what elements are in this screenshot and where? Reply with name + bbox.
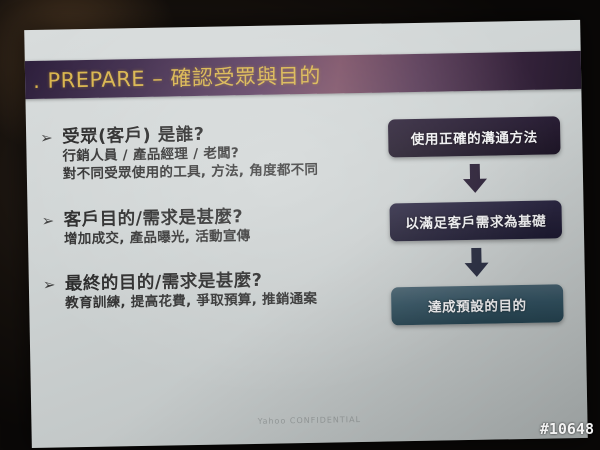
bullet-title: 客戶目的/需求是甚麼? — [63, 203, 243, 231]
flow-step-3: 達成預設的目的 — [391, 284, 564, 325]
arrowhead-bullet-icon: ➢ — [40, 130, 62, 145]
bullet-title: 受眾(客戶) 是誰? — [62, 121, 205, 149]
flow-step-label: 達成預設的目的 — [428, 294, 527, 316]
slide-surface: . PREPARE – 確認受眾與目的 ➢ 受眾(客戶) 是誰? 行銷人員 / … — [24, 20, 588, 448]
bullet-item-1: ➢ 受眾(客戶) 是誰? 行銷人員 / 產品經理 / 老闆? 對不同受眾使用的工… — [40, 118, 375, 185]
projected-slide-photo: . PREPARE – 確認受眾與目的 ➢ 受眾(客戶) 是誰? 行銷人員 / … — [0, 0, 600, 450]
bullet-list: ➢ 受眾(客戶) 是誰? 行銷人員 / 產品經理 / 老闆? 對不同受眾使用的工… — [26, 102, 384, 448]
slide-canvas: . PREPARE – 確認受眾與目的 ➢ 受眾(客戶) 是誰? 行銷人員 / … — [24, 20, 588, 448]
flow-step-1: 使用正確的溝通方法 — [388, 116, 561, 157]
flow-step-label: 以滿足客戶需求為基礎 — [405, 210, 546, 233]
arrowhead-bullet-icon: ➢ — [43, 278, 65, 293]
slide-body: ➢ 受眾(客戶) 是誰? 行銷人員 / 產品經理 / 老闆? 對不同受眾使用的工… — [26, 98, 588, 448]
down-arrow-icon — [461, 248, 492, 279]
flow-step-label: 使用正確的溝通方法 — [411, 126, 538, 148]
slide-title-band: . PREPARE – 確認受眾與目的 — [24, 51, 587, 99]
bullet-item-2: ➢ 客戶目的/需求是甚麼? 增加成交, 產品曝光, 活動宣傳 — [41, 200, 376, 249]
bullet-subline: 教育訓練, 提高花費, 爭取預算, 推銷通案 — [65, 290, 377, 314]
arrowhead-bullet-icon: ➢ — [42, 213, 64, 228]
flow-step-2: 以滿足客戶需求為基礎 — [389, 200, 562, 241]
down-arrow-icon — [460, 164, 491, 195]
photo-watermark: #10648 — [540, 420, 594, 438]
flow-diagram: 使用正確的溝通方法 以滿足客戶需求為基礎 達成預設的目的 — [378, 98, 588, 442]
page-title: . PREPARE – 確認受眾與目的 — [24, 60, 321, 95]
bullet-item-3: ➢ 最終的目的/需求是甚麼? 教育訓練, 提高花費, 爭取預算, 推銷通案 — [43, 265, 378, 314]
